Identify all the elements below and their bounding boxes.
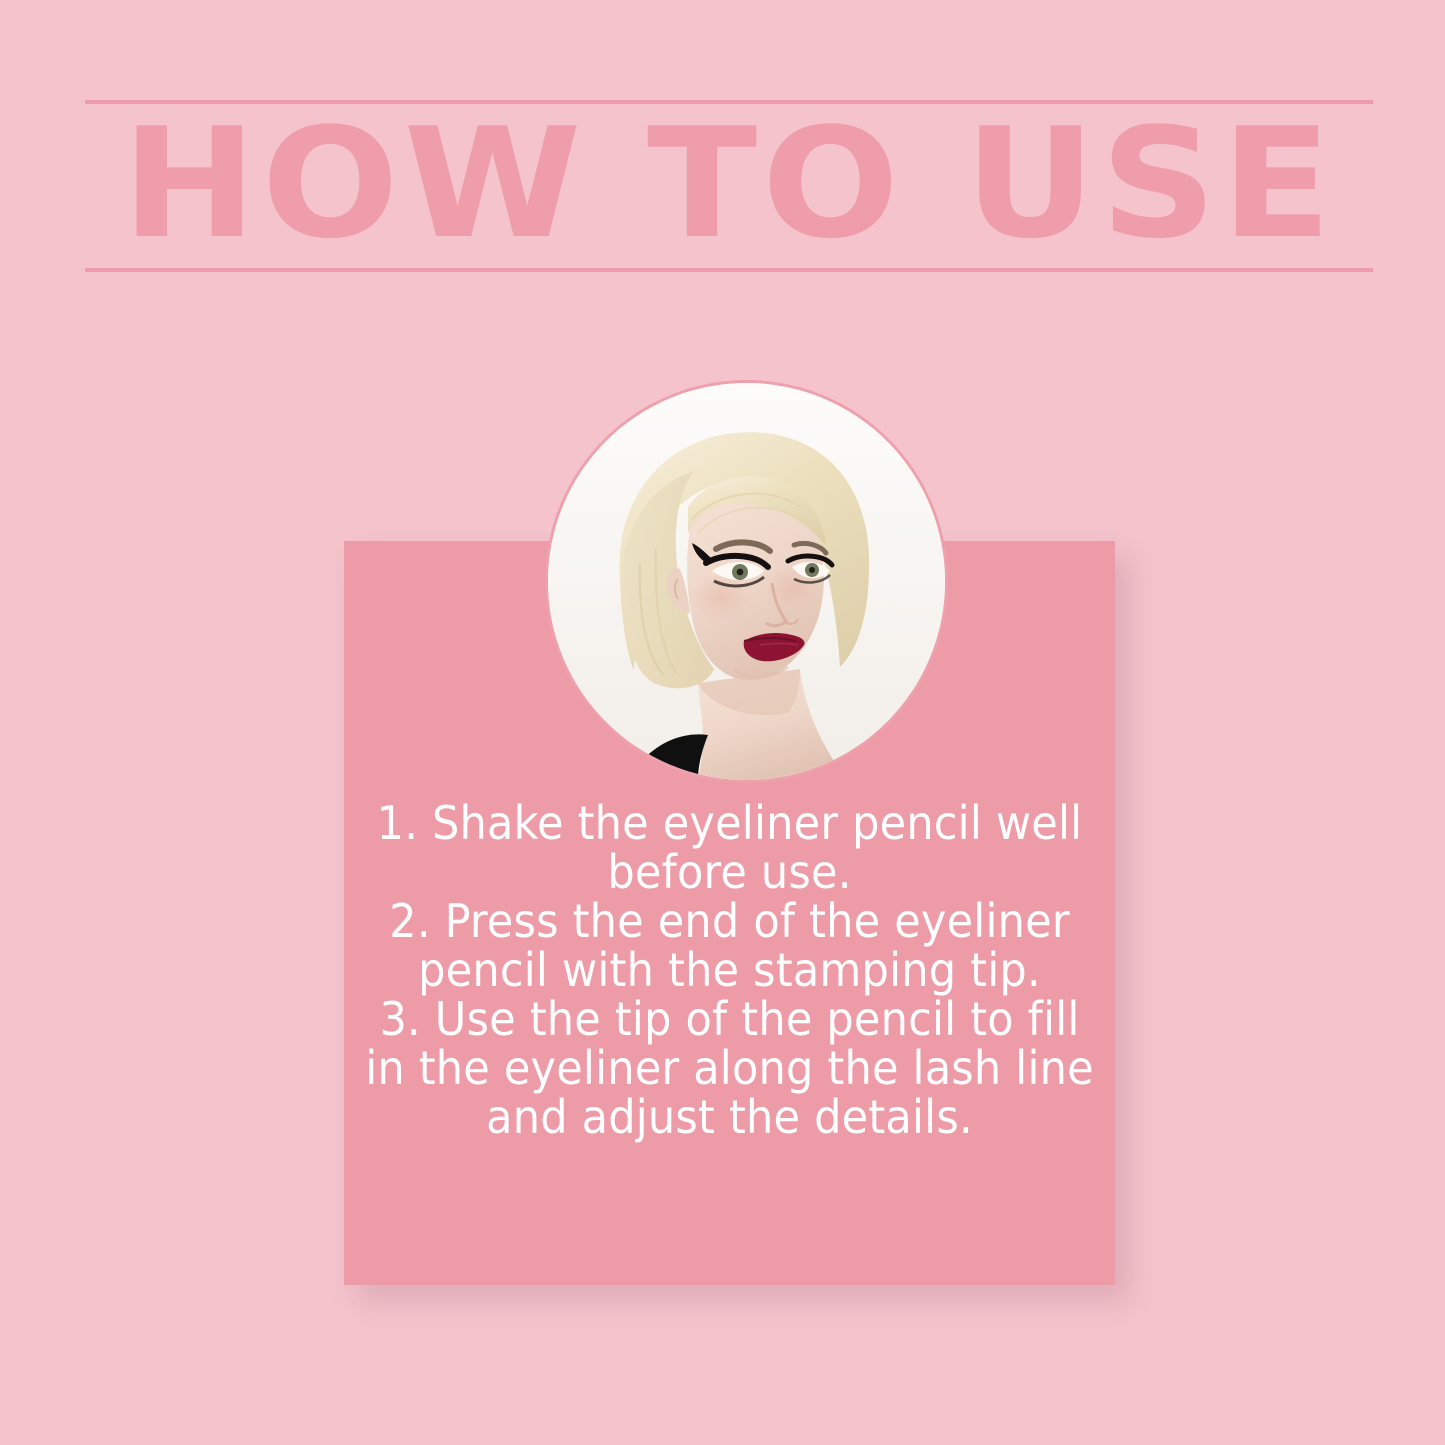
page-title: HOW TO USE (0, 108, 1445, 260)
divider-line-bottom (85, 268, 1373, 272)
portrait-illustration (548, 383, 945, 780)
how-to-use-poster: HOW TO USE 1. Shake the eyeliner pencil … (0, 0, 1445, 1445)
header: HOW TO USE (85, 100, 1373, 275)
instruction-step-1: 1. Shake the eyeliner pencil well before… (358, 799, 1102, 897)
portrait-image (548, 383, 945, 780)
portrait-photo (548, 383, 945, 780)
instruction-list: 1. Shake the eyeliner pencil well before… (344, 799, 1115, 1142)
instruction-step-2: 2. Press the end of the eyeliner pencil … (358, 897, 1102, 995)
instruction-step-3: 3. Use the tip of the pencil to fill in … (358, 995, 1102, 1142)
